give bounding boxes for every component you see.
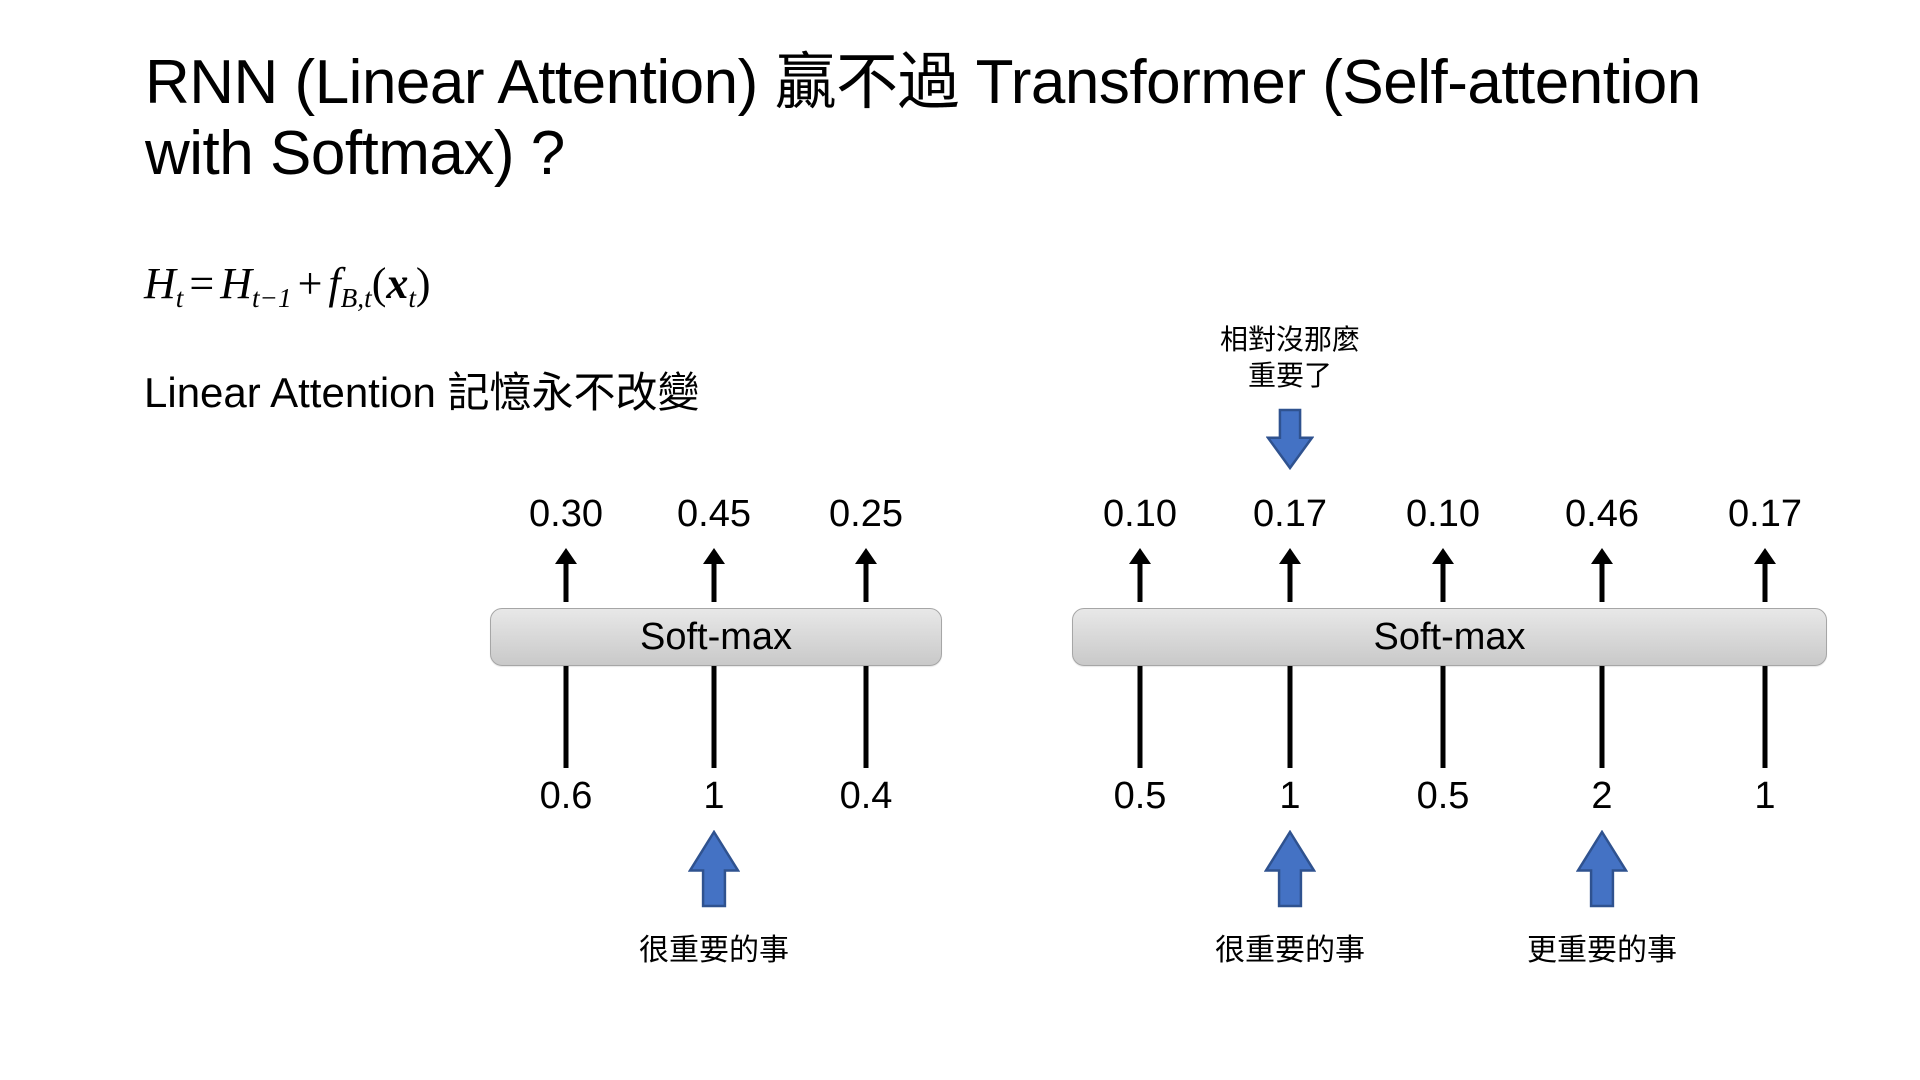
input-value: 2 bbox=[1591, 772, 1612, 820]
input-value: 0.5 bbox=[1417, 772, 1470, 820]
input-value: 1 bbox=[1754, 772, 1775, 820]
output-arrow-icon bbox=[1128, 548, 1152, 602]
softmax-box: Soft-max bbox=[1072, 608, 1827, 666]
input-connector-line bbox=[1288, 664, 1293, 768]
input-connector-line bbox=[1600, 664, 1605, 768]
output-arrow-icon bbox=[1590, 548, 1614, 602]
softmax-label: Soft-max bbox=[1373, 616, 1525, 659]
emphasis-arrow-up-icon bbox=[1264, 830, 1316, 908]
top-annotation-text: 相對沒那麼 重要了 bbox=[1220, 322, 1360, 394]
output-value: 0.17 bbox=[1728, 490, 1802, 538]
output-arrow-icon bbox=[1431, 548, 1455, 602]
input-connector-line bbox=[1138, 664, 1143, 768]
input-value: 1 bbox=[1279, 772, 1300, 820]
emphasis-caption: 很重要的事 bbox=[1215, 936, 1365, 966]
input-connector-line bbox=[1441, 664, 1446, 768]
output-value: 0.46 bbox=[1565, 490, 1639, 538]
slide-canvas: RNN (Linear Attention) 贏不過 Transformer (… bbox=[0, 0, 1920, 1080]
output-arrow-icon bbox=[1278, 548, 1302, 602]
output-value: 0.10 bbox=[1406, 490, 1480, 538]
input-value: 0.5 bbox=[1114, 772, 1167, 820]
input-connector-line bbox=[1763, 664, 1768, 768]
output-value: 0.10 bbox=[1103, 490, 1177, 538]
output-arrow-icon bbox=[1753, 548, 1777, 602]
panel-right: 0.100.170.100.460.17Soft-max0.510.521 很重… bbox=[0, 0, 1920, 1080]
output-value: 0.17 bbox=[1253, 490, 1327, 538]
emphasis-arrow-up-icon bbox=[1576, 830, 1628, 908]
emphasis-caption: 更重要的事 bbox=[1527, 936, 1677, 966]
annotation-arrow-down-icon bbox=[1266, 408, 1314, 470]
